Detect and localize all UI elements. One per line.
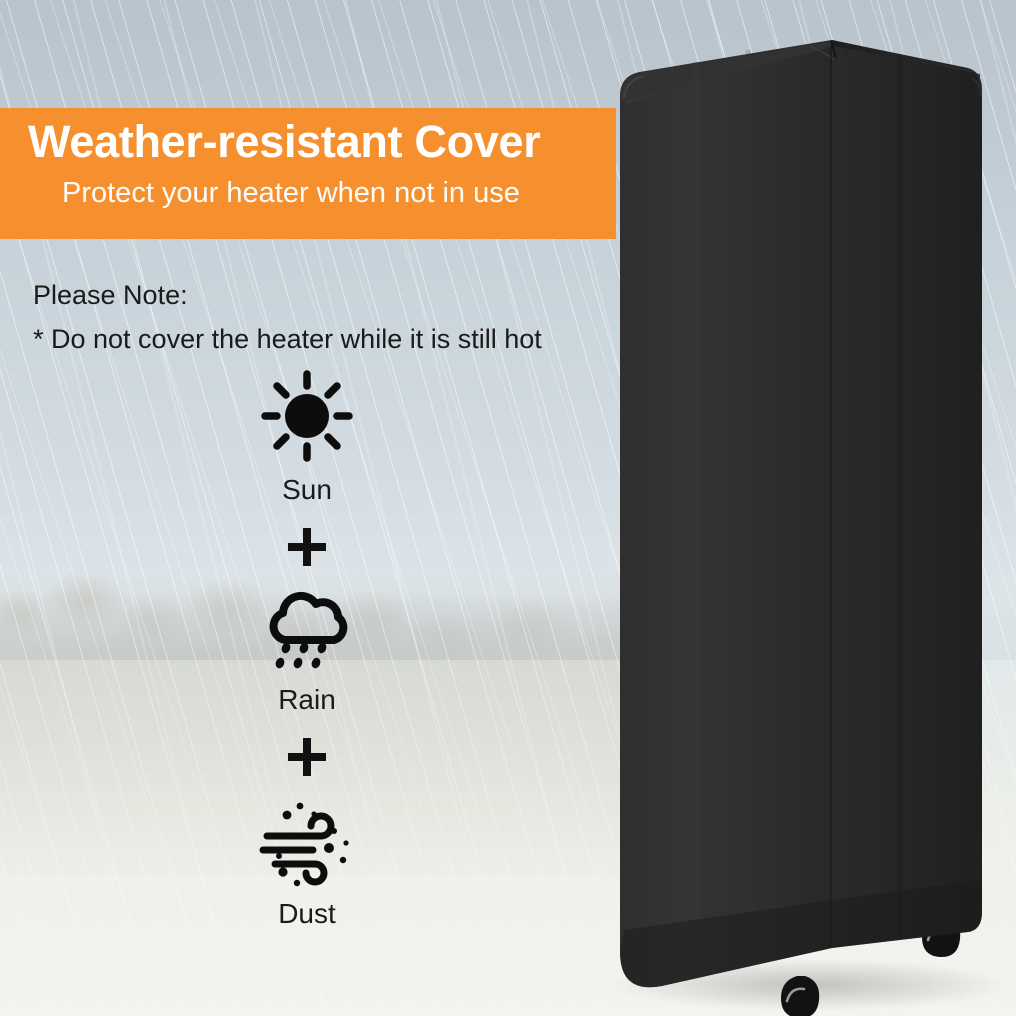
note-heading: Please Note: xyxy=(33,274,613,318)
cover-front-panel xyxy=(620,40,832,987)
plus-icon xyxy=(286,736,328,778)
protection-label-rain: Rain xyxy=(278,686,336,714)
sun-icon xyxy=(259,368,355,464)
protection-item-dust: Dust xyxy=(257,798,357,928)
protection-item-rain: Rain xyxy=(259,588,355,714)
plus-icon xyxy=(286,526,328,568)
protection-icon-column: Sun Rain xyxy=(172,368,442,928)
protection-label-sun: Sun xyxy=(282,476,332,504)
rain-icon xyxy=(259,588,355,674)
headline-banner: Weather-resistant Cover Protect your hea… xyxy=(0,108,616,239)
patio-heater-cover-image xyxy=(600,0,1016,1016)
banner-title: Weather-resistant Cover xyxy=(0,118,616,165)
protection-item-sun: Sun xyxy=(259,368,355,504)
product-marketing-image: Weather-resistant Cover Protect your hea… xyxy=(0,0,1016,1016)
dust-icon xyxy=(257,798,357,888)
please-note-block: Please Note: * Do not cover the heater w… xyxy=(33,274,613,361)
note-detail: * Do not cover the heater while it is st… xyxy=(33,318,613,362)
banner-subtitle: Protect your heater when not in use xyxy=(0,165,616,210)
cover-side-panel xyxy=(832,40,982,948)
protection-label-dust: Dust xyxy=(278,900,336,928)
